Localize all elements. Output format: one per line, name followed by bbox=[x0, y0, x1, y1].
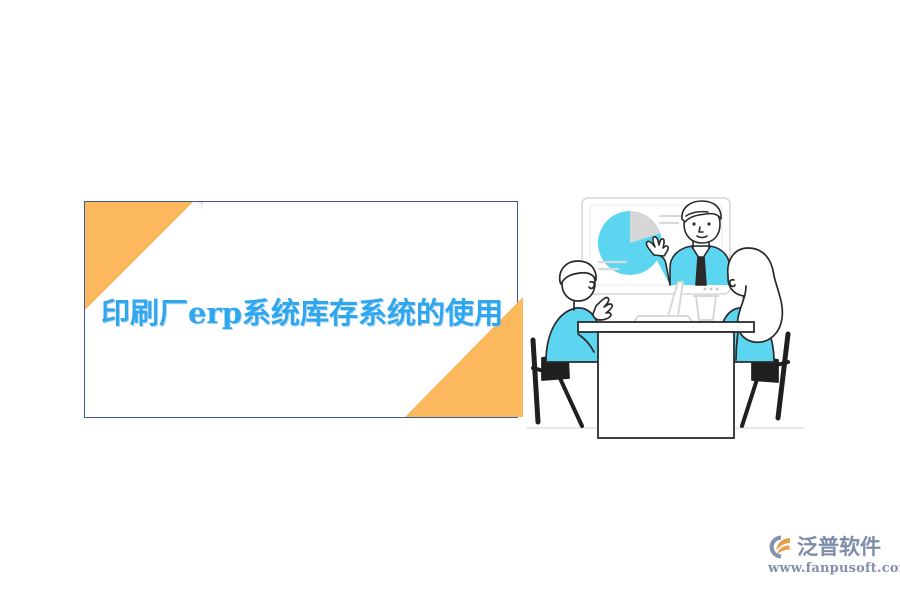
page-canvas: 印刷厂erp系统库存系统的使用 bbox=[0, 0, 900, 600]
wall-mounted-display-icon bbox=[582, 198, 730, 294]
page-title: 印刷厂erp系统库存系统的使用 bbox=[85, 202, 519, 419]
drinking-glass-icon bbox=[690, 296, 722, 322]
video-conference-illustration bbox=[520, 186, 810, 456]
screen-status-dots-icon bbox=[704, 288, 719, 291]
watermark-url-text: www.fanpusoft.com bbox=[768, 561, 896, 576]
watermark-brand-text: 泛普软件 bbox=[797, 534, 881, 560]
title-card: 印刷厂erp系统库存系统的使用 bbox=[84, 201, 518, 418]
fanpu-logo-mark-icon bbox=[768, 534, 794, 560]
watermark-logo: 泛普软件 www.fanpusoft.com bbox=[768, 534, 896, 588]
watermark-brand-row: 泛普软件 bbox=[768, 534, 896, 560]
table-icon bbox=[578, 322, 754, 438]
